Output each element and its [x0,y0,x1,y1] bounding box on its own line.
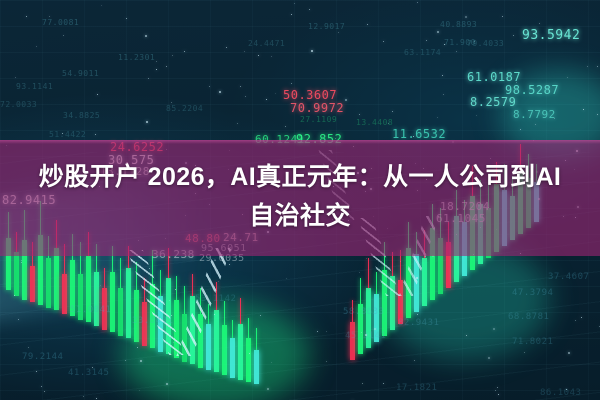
headline-line-2: 自治社交 [18,197,582,236]
price-number-label: 77.0081 [42,18,79,27]
price-number-label: 58.8633 [343,307,384,317]
price-number-label: 72.0033 [0,100,37,109]
price-number-label: 79.2144 [22,352,63,362]
price-number-label: 63.1174 [404,48,441,57]
price-number-label: 34.8825 [63,111,100,120]
price-number-label: 45.3141 [345,331,386,341]
price-number-label: 27.1109 [300,115,337,124]
price-number-label: 50.3607 [283,88,337,102]
headline-line-1: 炒股开户 2026，AI真正元年：从一人公司到AI [18,158,582,197]
price-number-label: 85.2204 [166,104,203,113]
price-number-label: 86.1043 [540,388,581,398]
price-number-label: 82.9431 [398,318,439,328]
price-number-label: 12.9017 [308,22,345,31]
price-number-label: 17.1821 [396,383,437,393]
price-number-label: 53.1142 [195,294,236,304]
price-number-label: 41.3145 [68,368,109,378]
price-number-label: 71.8021 [512,337,553,347]
stock-chart-banner-image: 93.594261.018798.52878.25798.779250.3607… [0,0,600,400]
price-number-label: 93.1141 [16,82,53,91]
price-number-label: 8.2579 [470,95,516,109]
price-number-label: 11.2301 [118,53,155,62]
price-number-label: 47.3794 [512,288,553,298]
headline-block: 炒股开户 2026，AI真正元年：从一人公司到AI 自治社交 [0,158,600,236]
price-number-label: 93.5942 [522,28,580,43]
price-number-label: 40.8893 [440,20,477,29]
price-number-label: 13.4408 [356,118,393,127]
price-number-label: 24.4471 [248,39,285,48]
price-number-label: 71.900 [444,38,476,47]
price-number-label: 8.7792 [513,108,556,121]
price-number-label: 33.8431 [132,316,173,326]
price-number-label: 68.8781 [508,312,549,322]
price-number-label: 61.0187 [467,70,521,84]
price-number-label: 51.4422 [49,130,86,139]
price-number-label: 70.9972 [290,101,344,115]
band-top-highlight [0,140,600,144]
price-number-label: 54.9011 [62,69,99,78]
price-number-label: 11.6532 [392,127,446,141]
price-number-label: 79.4033 [467,39,504,48]
price-number-label: 98.5287 [505,83,559,97]
price-number-label: 37.4607 [548,272,589,282]
price-number-label: 51.0041 [70,305,111,315]
